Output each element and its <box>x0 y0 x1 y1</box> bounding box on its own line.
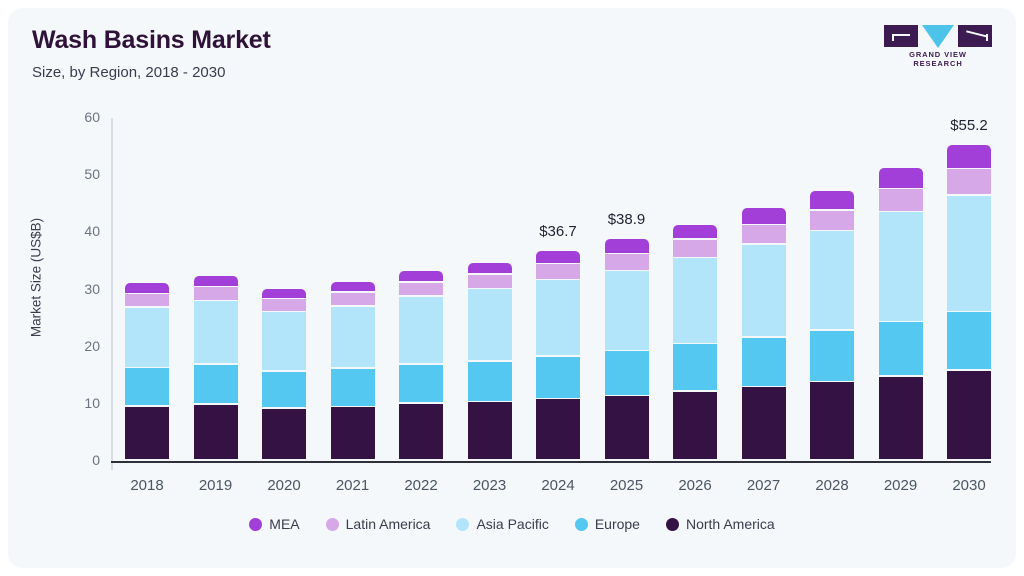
bar-segment-europe[interactable] <box>947 312 991 369</box>
bar-2025[interactable] <box>605 239 649 461</box>
y-tick-label: 60 <box>60 109 100 125</box>
bar-2023[interactable] <box>468 263 512 461</box>
bar-segment-latin-america[interactable] <box>194 287 238 300</box>
bar-segment-north-america[interactable] <box>879 377 923 460</box>
y-tick-label: 10 <box>60 395 100 411</box>
y-tick-label: 40 <box>60 223 100 239</box>
bar-segment-north-america[interactable] <box>947 371 991 460</box>
legend-item-mea[interactable]: MEA <box>249 516 299 532</box>
bar-segment-latin-america[interactable] <box>879 189 923 210</box>
bar-segment-asia-pacific[interactable] <box>742 245 786 336</box>
bar-segment-mea[interactable] <box>468 263 512 274</box>
y-tick-label: 50 <box>60 166 100 182</box>
bar-2029[interactable] <box>879 168 923 461</box>
stacked-bar-chart: Market Size (US$B) 0102030405060 2018201… <box>8 8 1016 568</box>
bar-segment-europe[interactable] <box>468 362 512 401</box>
bar-segment-asia-pacific[interactable] <box>194 301 238 363</box>
legend-swatch-icon <box>666 518 679 531</box>
y-axis-title: Market Size (US$B) <box>29 188 44 368</box>
bar-segment-north-america[interactable] <box>468 402 512 459</box>
bar-segment-mea[interactable] <box>536 251 580 263</box>
chart-legend: MEALatin AmericaAsia PacificEuropeNorth … <box>8 516 1016 532</box>
legend-label: MEA <box>269 516 299 532</box>
bar-segment-asia-pacific[interactable] <box>879 212 923 320</box>
legend-label: Europe <box>595 516 640 532</box>
bar-segment-europe[interactable] <box>399 365 443 402</box>
legend-swatch-icon <box>249 518 262 531</box>
bar-segment-asia-pacific[interactable] <box>125 308 169 367</box>
bar-segment-mea[interactable] <box>673 225 717 238</box>
bar-segment-mea[interactable] <box>879 168 923 188</box>
bar-segment-europe[interactable] <box>879 322 923 375</box>
y-tick-label: 20 <box>60 338 100 354</box>
bar-segment-latin-america[interactable] <box>125 294 169 306</box>
bar-segment-asia-pacific[interactable] <box>673 258 717 343</box>
bar-segment-mea[interactable] <box>742 208 786 224</box>
bar-segment-latin-america[interactable] <box>673 240 717 257</box>
x-tick-label: 2030 <box>929 477 1009 494</box>
bar-2030[interactable] <box>947 145 991 461</box>
bar-2019[interactable] <box>194 276 238 461</box>
legend-item-north-america[interactable]: North America <box>666 516 775 532</box>
bar-segment-asia-pacific[interactable] <box>810 231 854 329</box>
bar-2021[interactable] <box>331 282 375 461</box>
bar-segment-mea[interactable] <box>194 276 238 286</box>
bar-segment-asia-pacific[interactable] <box>947 196 991 311</box>
legend-swatch-icon <box>456 518 469 531</box>
bar-2024[interactable] <box>536 251 580 461</box>
bar-segment-mea[interactable] <box>947 145 991 168</box>
bar-segment-latin-america[interactable] <box>742 225 786 243</box>
chart-card: Wash Basins Market Size, by Region, 2018… <box>8 8 1016 568</box>
bar-segment-north-america[interactable] <box>673 392 717 460</box>
legend-label: Latin America <box>346 516 431 532</box>
bar-segment-mea[interactable] <box>331 282 375 291</box>
bar-value-label: $55.2 <box>924 117 1014 134</box>
bar-segment-latin-america[interactable] <box>468 275 512 288</box>
bar-2018[interactable] <box>125 283 169 461</box>
bar-segment-latin-america[interactable] <box>331 293 375 305</box>
bar-segment-asia-pacific[interactable] <box>262 312 306 370</box>
legend-item-latin-america[interactable]: Latin America <box>326 516 431 532</box>
bar-segment-latin-america[interactable] <box>262 299 306 311</box>
bar-segment-europe[interactable] <box>331 369 375 406</box>
y-tick-label: 0 <box>60 452 100 468</box>
bar-segment-mea[interactable] <box>262 289 306 298</box>
bar-segment-asia-pacific[interactable] <box>331 307 375 368</box>
bar-segment-latin-america[interactable] <box>536 264 580 279</box>
bar-segment-mea[interactable] <box>605 239 649 253</box>
bar-segment-latin-america[interactable] <box>810 211 854 230</box>
bar-2027[interactable] <box>742 208 786 461</box>
legend-label: Asia Pacific <box>476 516 548 532</box>
bar-segment-europe[interactable] <box>605 351 649 395</box>
bar-2020[interactable] <box>262 289 306 461</box>
bar-segment-north-america[interactable] <box>194 405 238 460</box>
bar-segment-north-america[interactable] <box>399 404 443 460</box>
bar-segment-north-america[interactable] <box>810 382 854 459</box>
bar-segment-europe[interactable] <box>125 368 169 405</box>
bar-2022[interactable] <box>399 271 443 461</box>
bar-segment-asia-pacific[interactable] <box>536 280 580 355</box>
bar-segment-asia-pacific[interactable] <box>468 289 512 360</box>
legend-swatch-icon <box>575 518 588 531</box>
bar-value-label: $38.9 <box>582 211 672 228</box>
bar-segment-north-america[interactable] <box>331 407 375 459</box>
bar-segment-latin-america[interactable] <box>399 283 443 296</box>
bar-2026[interactable] <box>673 225 717 461</box>
bar-segment-north-america[interactable] <box>125 407 169 460</box>
bar-segment-europe[interactable] <box>262 372 306 408</box>
bar-segment-latin-america[interactable] <box>605 254 649 270</box>
legend-swatch-icon <box>326 518 339 531</box>
bar-2028[interactable] <box>810 191 854 461</box>
legend-label: North America <box>686 516 775 532</box>
bar-segment-europe[interactable] <box>536 357 580 398</box>
bar-segment-mea[interactable] <box>399 271 443 281</box>
bar-segment-north-america[interactable] <box>262 409 306 460</box>
bar-segment-asia-pacific[interactable] <box>605 271 649 350</box>
y-tick-label: 30 <box>60 281 100 297</box>
bar-segment-europe[interactable] <box>810 331 854 381</box>
bar-segment-mea[interactable] <box>125 283 169 292</box>
bar-segment-mea[interactable] <box>810 191 854 210</box>
bar-segment-asia-pacific[interactable] <box>399 297 443 364</box>
bar-segment-europe[interactable] <box>194 365 238 404</box>
bar-segment-north-america[interactable] <box>742 387 786 459</box>
bar-segment-europe[interactable] <box>673 344 717 390</box>
y-axis-line <box>111 118 113 470</box>
x-axis-line <box>111 461 991 463</box>
bar-segment-north-america[interactable] <box>605 396 649 459</box>
bar-segment-north-america[interactable] <box>536 399 580 459</box>
legend-item-asia-pacific[interactable]: Asia Pacific <box>456 516 548 532</box>
bar-segment-europe[interactable] <box>742 338 786 386</box>
legend-item-europe[interactable]: Europe <box>575 516 640 532</box>
bar-segment-latin-america[interactable] <box>947 169 991 194</box>
